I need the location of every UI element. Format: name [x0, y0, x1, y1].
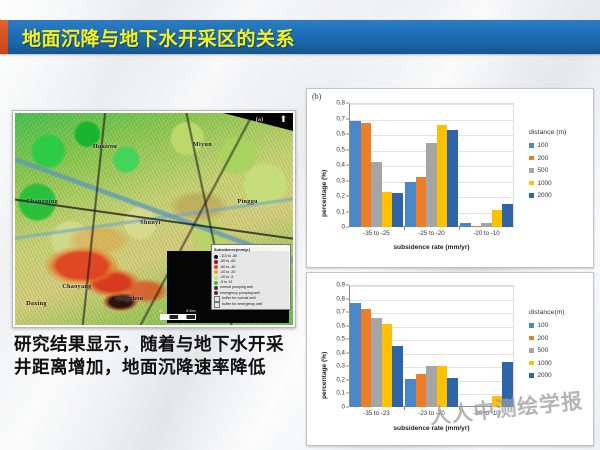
y-axis-tick: 0,5	[336, 336, 345, 343]
legend-swatch-icon	[214, 281, 218, 285]
chart-bar[interactable]	[382, 324, 393, 407]
legend-swatch-icon	[214, 260, 218, 264]
chart-bar[interactable]	[481, 223, 492, 227]
legend-swatch-icon	[214, 265, 218, 269]
chart-panel-c: 00,10,20,30,40,50,60,70,80,9-35 to -23-2…	[306, 272, 594, 446]
y-axis-tick: 0,4	[336, 349, 345, 356]
title-accent-bar	[0, 20, 8, 54]
chart-bar[interactable]	[405, 379, 416, 407]
y-axis-tick: 0,2	[336, 193, 345, 200]
x-axis-tick: -35 to -25	[363, 230, 389, 237]
chart-c-legend-title: distance(m)	[529, 309, 565, 316]
chart-bar-groups: -35 to -25-25 to -20-20 to -10	[349, 103, 514, 227]
pumping-well-icon	[214, 286, 218, 290]
chart-bar-groups: -35 to -23-23 to -20-20 to -10	[349, 285, 514, 407]
chart-bar[interactable]	[371, 318, 382, 407]
legend-item: 100	[529, 142, 566, 149]
legend-swatch-icon	[529, 156, 534, 161]
y-axis-tick: 0,2	[336, 376, 345, 383]
chart-bar-group: -25 to -20	[404, 103, 459, 227]
chart-bar[interactable]	[471, 226, 482, 227]
y-axis-tick: 0,5	[336, 146, 345, 153]
x-axis-tick: -23 to -20	[418, 410, 444, 417]
map-place-label: Miyun	[193, 141, 212, 148]
y-axis-tick: 0,3	[336, 177, 345, 184]
legend-item: 100	[529, 322, 565, 329]
y-axis-tick: 0,6	[336, 131, 345, 138]
chart-bar[interactable]	[492, 396, 503, 407]
chart-bar[interactable]	[447, 130, 458, 227]
chart-bar[interactable]	[416, 374, 427, 407]
x-axis-tick: -20 to -10	[473, 230, 499, 237]
chart-bar[interactable]	[447, 378, 458, 407]
legend-swatch-icon	[214, 255, 218, 259]
y-axis-tick: 0,6	[336, 322, 345, 329]
map-legend-label: emergency pumping well	[220, 291, 260, 296]
legend-swatch-icon	[529, 168, 534, 173]
y-axis-tick: 0	[342, 404, 345, 411]
legend-swatch-icon	[529, 193, 534, 198]
scale-min: 0	[160, 308, 162, 313]
map-legend-row: buffer for emergency well	[214, 302, 288, 308]
chart-bar[interactable]	[492, 210, 503, 227]
legend-swatch-icon	[529, 181, 534, 186]
map-figure-tag: (a)	[256, 116, 263, 123]
y-axis-tick: 0,8	[336, 100, 345, 107]
buffer-emergency-icon	[214, 302, 220, 308]
legend-swatch-icon	[214, 270, 218, 274]
legend-label: 100	[538, 322, 549, 329]
y-axis-tick: 0,4	[336, 162, 345, 169]
legend-item: 500	[529, 347, 565, 354]
y-axis-tick: 0	[342, 224, 345, 231]
legend-label: 200	[538, 155, 549, 162]
map-place-label: Chaoyang	[62, 283, 91, 290]
legend-label: 500	[538, 347, 549, 354]
chart-c-ylabel: percentage (%)	[321, 352, 328, 399]
y-axis-tick: 0,1	[336, 208, 345, 215]
chart-bar[interactable]	[437, 366, 448, 407]
chart-bar-group: -35 to -23	[349, 285, 404, 407]
chart-bar-group: -20 to -10	[459, 103, 514, 227]
legend-swatch-icon	[529, 361, 534, 366]
legend-item: 1000	[529, 180, 566, 187]
legend-label: 200	[538, 335, 549, 342]
legend-item: 200	[529, 155, 566, 162]
legend-item: 200	[529, 335, 565, 342]
map-place-label: Huairou	[93, 143, 117, 150]
legend-item: 2000	[529, 372, 565, 379]
chart-bar[interactable]	[502, 362, 513, 407]
x-axis-tick: -20 to -10	[473, 410, 499, 417]
chart-bar[interactable]	[350, 121, 361, 227]
y-axis-tick: 0,8	[336, 295, 345, 302]
y-axis-tick: 0,7	[336, 115, 345, 122]
chart-bar[interactable]	[502, 204, 513, 227]
chart-bar[interactable]	[350, 303, 361, 407]
chart-bar[interactable]	[382, 192, 393, 227]
x-axis-separator	[404, 227, 405, 230]
legend-swatch-icon	[529, 348, 534, 353]
legend-label: 2000	[538, 372, 552, 379]
chart-bar[interactable]	[426, 366, 437, 407]
legend-swatch-icon	[529, 323, 534, 328]
y-axis-tick: 0,1	[336, 390, 345, 397]
chart-b-plot: 00,10,20,30,40,50,60,70,8-35 to -25-25 t…	[349, 103, 514, 227]
chart-bar-group: -35 to -25	[349, 103, 404, 227]
x-axis-separator	[404, 407, 405, 410]
legend-label: 1000	[538, 360, 552, 367]
map-legend-title: Subsidence(mm/yr)	[214, 247, 288, 253]
legend-label: 100	[538, 142, 549, 149]
body-text: 研究结果显示，随着与地下水开采井距离增加，地面沉降速率降低	[14, 334, 290, 380]
emergency-well-icon	[214, 291, 218, 295]
x-axis-tick: -35 to -23	[363, 410, 389, 417]
legend-swatch-icon	[529, 336, 534, 341]
map-place-label: Pinggu	[237, 198, 257, 205]
map-legend-label: buffer for emergency well	[222, 302, 262, 307]
chart-bar[interactable]	[416, 177, 427, 227]
chart-b-legend: distance (m) 100 200 500 1000 2000	[529, 129, 566, 205]
y-axis-tick: 0,9	[336, 282, 345, 289]
north-arrow-icon: ⬆	[279, 115, 287, 124]
chart-b-legend-title: distance (m)	[529, 129, 566, 136]
map-canvas: (a) ⬆ Huairou Miyun Changping Pinggu Shu…	[15, 113, 293, 325]
legend-swatch-icon	[529, 143, 534, 148]
x-axis-tick: -25 to -20	[418, 230, 444, 237]
y-axis-tick: 0,7	[336, 309, 345, 316]
legend-label: 2000	[538, 192, 552, 199]
scale-max: 6 Km	[186, 308, 195, 313]
x-axis-separator	[459, 227, 460, 230]
chart-bar[interactable]	[437, 125, 448, 227]
map-legend-label: buffer for normal well	[222, 296, 256, 301]
chart-bar[interactable]	[426, 143, 437, 227]
map-place-label: Tongzhou	[115, 295, 143, 302]
legend-item: 1000	[529, 360, 565, 367]
chart-bar[interactable]	[392, 193, 403, 227]
chart-bar[interactable]	[405, 182, 416, 227]
chart-b-ylabel: percentage (%)	[321, 170, 328, 217]
page-title: 地面沉降与地下水开采区的关系	[22, 20, 295, 54]
chart-bar[interactable]	[361, 123, 372, 227]
scale-bar-graphic	[160, 314, 196, 320]
legend-label: 500	[538, 167, 549, 174]
chart-bar[interactable]	[371, 162, 382, 227]
map-scale-bar: 06 Km	[160, 308, 196, 320]
chart-bar[interactable]	[392, 346, 403, 407]
chart-c-plot: 00,10,20,30,40,50,60,70,80,9-35 to -23-2…	[349, 285, 514, 407]
x-axis-separator	[459, 407, 460, 410]
subsidence-map-figure: (a) ⬆ Huairou Miyun Changping Pinggu Shu…	[12, 110, 296, 328]
chart-b-xlabel: subsidence rate (mm/yr)	[349, 244, 514, 251]
legend-item: 500	[529, 167, 566, 174]
chart-bar[interactable]	[361, 309, 372, 407]
map-place-label: Changping	[26, 198, 58, 205]
legend-swatch-icon	[529, 373, 534, 378]
chart-panel-b: (b) 00,10,20,30,40,50,60,70,8-35 to -25-…	[306, 88, 594, 268]
legend-label: 1000	[538, 180, 552, 187]
chart-c-xlabel: subsidence rate (mm/yr)	[349, 425, 514, 432]
chart-bar-group: -23 to -20	[404, 285, 459, 407]
map-place-label: Daxing	[26, 300, 47, 307]
legend-swatch-icon	[214, 276, 218, 280]
legend-item: 2000	[529, 192, 566, 199]
chart-c-legend: distance(m) 100 200 500 1000 2000	[529, 309, 565, 385]
chart-bar[interactable]	[460, 223, 471, 227]
map-place-label: Shunyi	[140, 219, 160, 226]
chart-b-tag: (b)	[312, 92, 321, 101]
chart-bar-group: -20 to -10	[459, 285, 514, 407]
y-axis-tick: 0,3	[336, 363, 345, 370]
map-legend: Subsidence(mm/yr) -110 to -80 -80 to -60…	[211, 244, 291, 309]
